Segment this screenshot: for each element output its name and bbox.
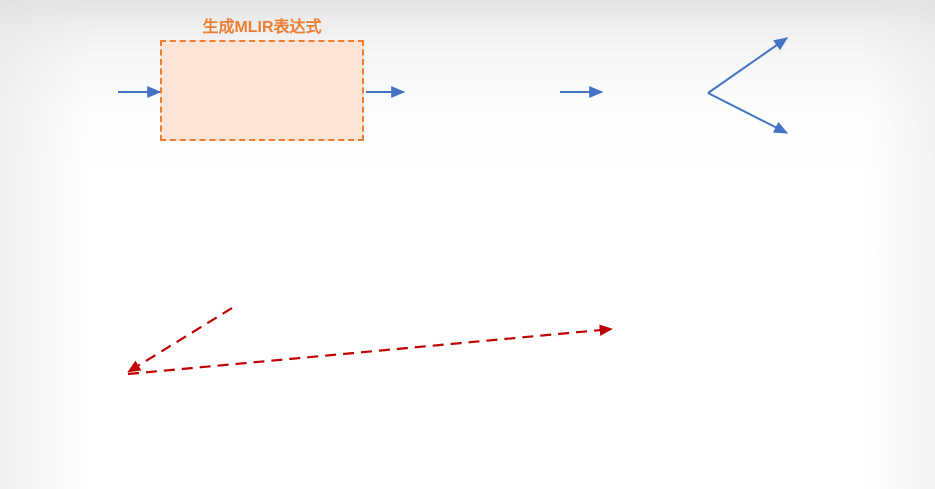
slide-canvas: 生成MLIR表达式 .toy源文件 AST MLIRGen Transforma…	[0, 0, 935, 489]
link-dialect-to-operation	[128, 329, 612, 374]
connector-layer	[0, 0, 935, 489]
mlir-expression-highlight-box	[160, 40, 364, 141]
arrow-lowering-to-jit	[708, 93, 787, 133]
arrow-lowering-to-llvmir	[708, 38, 787, 93]
link-mlirgen-to-dialect	[128, 308, 232, 372]
highlight-box-title: 生成MLIR表达式	[160, 13, 364, 37]
